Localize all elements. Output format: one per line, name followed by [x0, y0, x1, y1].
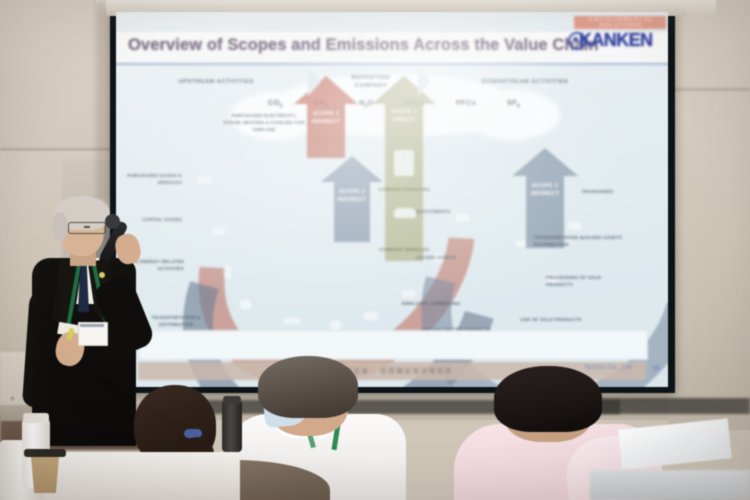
arrow-label-scope1: SCOPE 1DIRECT	[385, 108, 423, 124]
building-icon	[224, 266, 231, 278]
desk-edge	[590, 470, 750, 500]
label-employee-commuting: EMPLOYEE COMMUTING	[402, 300, 466, 307]
company-vehicle-icon	[394, 208, 416, 218]
attendee-pink-hair	[494, 366, 602, 432]
brand-banner-text: ENVIRONMENTAL SOLUTIONS	[578, 17, 664, 28]
company-facility-icon	[394, 150, 414, 176]
arrow-head	[512, 148, 578, 176]
arrow-label-scope3-upstream: SCOPE 3INDIRECT	[307, 110, 345, 126]
arrow-label-scope2: SCOPE 2INDIRECT	[334, 188, 370, 204]
diagram-canvas: CO2 CH4 N2O HFCs PFCs SF6	[116, 68, 668, 387]
brand-logo-text: KANKEN	[579, 30, 652, 51]
label-leased-assets-down: LEASED ASSETS	[582, 234, 640, 241]
transport-icon	[284, 318, 300, 324]
label-company-facilities: COMPANY FACILITIES	[378, 186, 430, 193]
wall-right	[668, 0, 750, 430]
presenter-glasses-icon	[68, 222, 106, 234]
label-purchased-electricity: PURCHASED ELECTRICITY, STEAM, HEATING & …	[222, 112, 306, 133]
activity-downstream: DOWNSTREAM ACTIVITIES	[426, 68, 624, 96]
box-icon	[240, 300, 251, 309]
presenter-hair-side	[52, 212, 68, 242]
title-underline	[116, 63, 668, 65]
factory-icon	[198, 176, 212, 183]
presenter-badge-line	[80, 324, 104, 327]
label-leased-assets-up: LEASED ASSETS	[416, 254, 472, 261]
wall-right-seam	[668, 88, 750, 91]
arrow-scope3-downstream: SCOPE 3INDIRECT	[512, 148, 578, 248]
label-investments: INVESTMENTS	[416, 208, 478, 215]
water-bottle-cap	[23, 413, 49, 423]
plane-icon	[364, 312, 378, 320]
arrow-body	[385, 104, 423, 261]
gas-co2: CO2	[268, 98, 283, 110]
projection-screen: Overview of Scopes and Emissions Across …	[116, 12, 668, 387]
gas-sf6: SF6	[507, 98, 520, 110]
presenter-lapel-pin	[99, 272, 105, 278]
slide-number: 19	[652, 365, 659, 372]
slide-surface: Overview of Scopes and Emissions Across …	[116, 12, 668, 387]
activity-upstream: UPSTREAM ACTIVITIES	[116, 68, 316, 96]
truck-icon	[212, 228, 225, 235]
arrow-scope2-indirect: SCOPE 2INDIRECT	[321, 156, 383, 242]
label-company-vehicles: COMPANY VEHICLES	[378, 246, 430, 253]
arrow-label-scope3-downstream: SCOPE 3INDIRECT	[526, 182, 564, 198]
coffee-cup-lid	[24, 449, 66, 457]
gas-pfcs: PFCs	[456, 98, 476, 107]
photo-scene: Overview of Scopes and Emissions Across …	[0, 0, 750, 500]
car-icon	[402, 290, 415, 297]
slide-title: Overview of Scopes and Emissions Across …	[128, 36, 608, 55]
thermos-bottle	[222, 400, 242, 452]
label-use-of-sold: USE OF SOLD PRODUCTS	[516, 316, 586, 323]
label-franchises: FRANCHISES	[582, 188, 640, 195]
attendee-masked-hair	[258, 356, 358, 418]
arrow-head	[321, 156, 383, 182]
label-processing-sold: PROCESSING OF SOLD PRODUCTS	[546, 274, 612, 288]
thermos-cap	[223, 396, 241, 404]
label-purchased-goods: PURCHASED GOODS & SERVICES	[118, 172, 182, 186]
activity-reporting-company: REPORTINGCOMPANY	[316, 68, 426, 96]
cloud-service-icon	[456, 214, 469, 222]
